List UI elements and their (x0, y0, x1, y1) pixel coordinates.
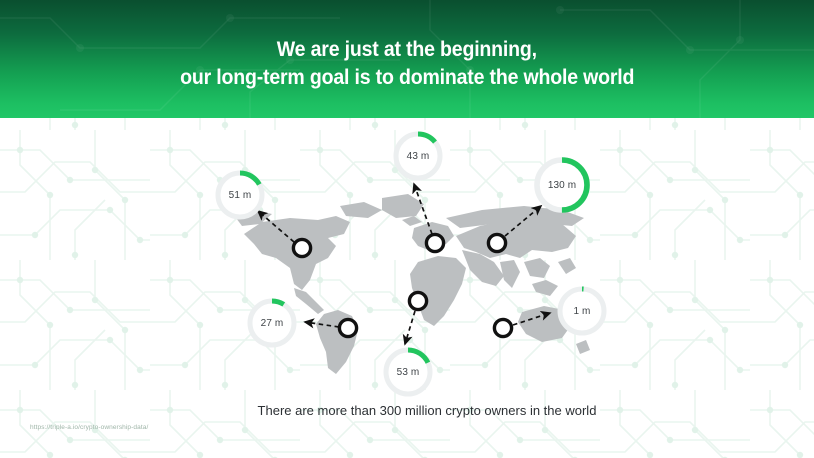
page-title-line-1: We are just at the beginning, (277, 36, 537, 64)
bubble-asia[interactable]: 130 m (531, 154, 593, 216)
bubble-label-oceania: 1 m (555, 284, 609, 338)
marker-europe[interactable] (426, 234, 443, 251)
marker-africa[interactable] (409, 292, 426, 309)
bubble-label-asia: 130 m (531, 154, 593, 216)
summary-caption: There are more than 300 million crypto o… (0, 403, 814, 418)
slide-root: We are just at the beginning, our long-t… (0, 0, 814, 458)
marker-south-america[interactable] (339, 319, 356, 336)
bubble-africa[interactable]: 53 m (381, 345, 435, 399)
bubble-label-north-america: 51 m (213, 168, 267, 222)
page-title-line-2: our long-term goal is to dominate the wh… (180, 64, 634, 92)
marker-oceania[interactable] (494, 319, 511, 336)
header-banner: We are just at the beginning, our long-t… (0, 0, 814, 118)
source-url-link[interactable]: https://triple-a.io/crypto-ownership-dat… (30, 424, 148, 431)
marker-asia[interactable] (488, 234, 505, 251)
marker-north-america[interactable] (293, 239, 310, 256)
bubble-label-south-america: 27 m (245, 296, 299, 350)
bubble-oceania[interactable]: 1 m (555, 284, 609, 338)
bubble-south-america[interactable]: 27 m (245, 296, 299, 350)
bubble-north-america[interactable]: 51 m (213, 168, 267, 222)
bubble-label-africa: 53 m (381, 345, 435, 399)
bubble-label-europe: 43 m (391, 129, 445, 183)
bubble-europe[interactable]: 43 m (391, 129, 445, 183)
